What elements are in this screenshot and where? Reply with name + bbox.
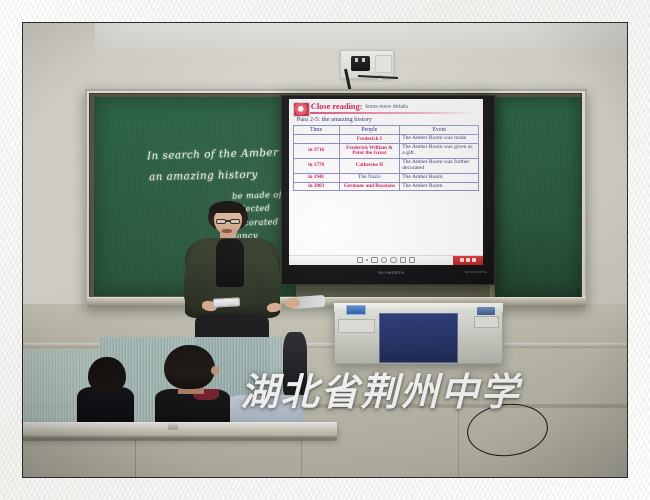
desk-edge: [23, 436, 337, 441]
table-row: in 1716 Frederick William & Peter the Gr…: [293, 144, 478, 159]
cell-time: in 1941: [293, 173, 339, 182]
outlet-socket-slot[interactable]: [375, 55, 393, 73]
cell-people: Germans and Russians: [339, 182, 400, 191]
chalkboard-right-panel: [495, 97, 581, 298]
slide-content: Close reading: know more details Para 2-…: [289, 99, 483, 264]
slide-divider: [293, 112, 479, 113]
cell-event: The Amber Room: [400, 173, 479, 182]
student-foreground-left: [88, 357, 125, 392]
ceiling-highlight: [23, 23, 627, 55]
teacher-inner-top: [216, 239, 244, 287]
photo-frame: In search of the Amber Room an amazing h…: [0, 0, 650, 500]
amber-room-table: Time People Event Frederick I The Amber …: [293, 125, 479, 191]
plug-prong: [362, 58, 365, 63]
student-hand: [285, 298, 299, 308]
cell-time: in 1770: [293, 159, 339, 174]
slide-header: Close reading: know more details: [293, 102, 479, 111]
display-brand-logo: SKYWORTH: [364, 269, 418, 276]
presenter-remote[interactable]: [212, 297, 239, 307]
table-row: in 1941 The Nazis The Amber Room: [293, 173, 478, 182]
cell-event: The Amber Room: [400, 182, 479, 191]
lectern-control-panel-left[interactable]: [338, 319, 374, 333]
cell-people: Frederick William & Peter the Great: [339, 144, 400, 159]
slide-paragraph-label: Para 2-5: the amazing history: [293, 116, 479, 123]
cell-time: [293, 135, 339, 144]
pen-icon[interactable]: [357, 257, 363, 263]
desk-knob: [168, 423, 178, 429]
cell-time: in 2003: [293, 182, 339, 191]
cell-people: Catherine II: [339, 159, 400, 174]
lectern-device-right[interactable]: [477, 307, 495, 315]
close-icon: [472, 258, 476, 262]
cell-event: The Amber Room was given as a gift.: [400, 144, 479, 159]
plug-prong: [355, 58, 358, 63]
close-icon: [460, 258, 464, 262]
dot-icon[interactable]: [366, 259, 368, 261]
lectern-control-panel-right[interactable]: [474, 316, 499, 328]
pointer-icon[interactable]: [371, 257, 377, 263]
glasses-bridge: [226, 220, 230, 221]
power-plug[interactable]: [351, 56, 370, 71]
cell-event: The Amber Room was made: [400, 135, 479, 144]
cell-people: The Nazis: [339, 173, 400, 182]
display-brand-logo-secondary: SKYWORTH: [455, 270, 497, 276]
glasses-icon: [230, 219, 240, 225]
slide-title: Close reading:: [311, 102, 363, 111]
square-icon[interactable]: [400, 257, 406, 263]
slide-seal-icon: [293, 102, 310, 117]
table-row: in 2003 Germans and Russians The Amber R…: [293, 182, 478, 191]
photo-watermark: 湖北省荆州中学: [240, 373, 602, 432]
student-foreground-center: [164, 345, 215, 389]
column-header-people: People: [339, 126, 400, 135]
lectern-device-left[interactable]: [346, 305, 366, 315]
column-header-time: Time: [293, 126, 339, 135]
close-button[interactable]: [453, 256, 483, 265]
table-row: in 1770 Catherine II The Amber Room was …: [293, 159, 478, 174]
close-icon: [466, 258, 470, 262]
column-header-event: Event: [400, 126, 479, 135]
circle-icon[interactable]: [390, 257, 396, 263]
cell-event: The Amber Room was further decorated: [400, 159, 479, 174]
lectern-monitor[interactable]: [379, 313, 458, 364]
circle-icon[interactable]: [381, 257, 387, 263]
table-row: Frederick I The Amber Room was made: [293, 135, 478, 144]
classroom-scene: In search of the Amber Room an amazing h…: [22, 22, 628, 478]
presentation-screen[interactable]: Close reading: know more details Para 2-…: [289, 99, 483, 264]
glasses-icon: [216, 219, 226, 225]
cell-people: Frederick I: [339, 135, 400, 144]
table-header-row: Time People Event: [293, 126, 478, 135]
cell-time: in 1716: [293, 144, 339, 159]
grid-icon[interactable]: [409, 257, 415, 263]
slide-subtitle: know more details: [365, 104, 408, 111]
teacher-fringe: [209, 201, 246, 212]
